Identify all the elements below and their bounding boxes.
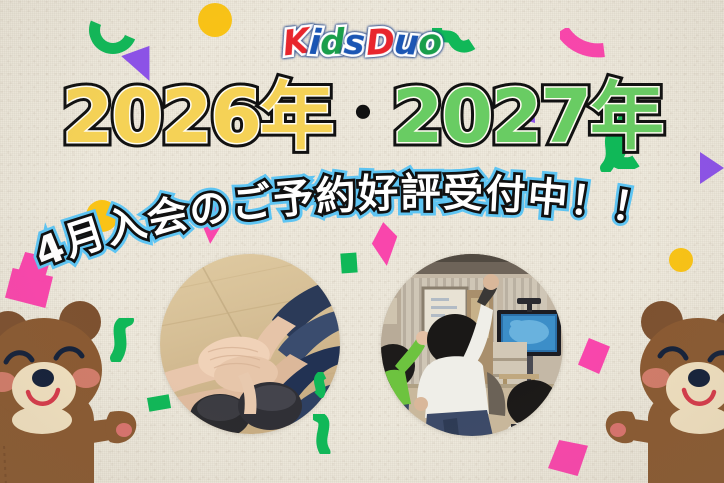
headline-year-2026-inner: 2026年 <box>62 80 332 154</box>
green-rect-bottomleft-icon <box>147 394 171 412</box>
logo-letter-o: o <box>417 25 443 62</box>
bear-right-mascot <box>592 296 724 483</box>
headline-years: 2026年 2026年 ・ 2027年 2027年 <box>0 80 724 154</box>
headline-year-2027-inner: 2027年 <box>392 80 662 154</box>
kids-duo-logo: KidsDuo <box>0 26 724 61</box>
yellow-circle-bottomright-icon <box>669 248 693 272</box>
promo-banner: KidsDuo 2026年 2026年 ・ 2027年 2027年 4月入会のご… <box>0 0 724 483</box>
subheadline-block: 4月入会のご予約好評受付中！！ 4月入会のご予約好評受付中！！ <box>0 175 724 285</box>
green-leaf-bottomleft-icon <box>310 372 332 398</box>
logo-letter-u: u <box>393 25 419 62</box>
logo-letter-s: s <box>343 25 366 62</box>
green-leaf-below-photo-icon <box>313 414 335 454</box>
headline-separator: ・ <box>332 80 392 148</box>
logo-letter-d-upper: D <box>365 25 395 62</box>
pink-rhombus-bottom-icon <box>548 440 588 476</box>
subheadline-text-path: 4月入会のご予約好評受付中！！ <box>28 170 657 277</box>
green-leaf-left-icon <box>108 318 136 362</box>
logo-letter-k: K <box>281 25 311 63</box>
subheadline-text: 4月入会のご予約好評受付中！！ <box>28 170 657 277</box>
logo-letter-d: d <box>319 25 345 61</box>
headline-year-2026-wrap: 2026年 2026年 <box>62 80 332 154</box>
headline-year-2027-wrap: 2027年 2027年 <box>392 80 662 154</box>
